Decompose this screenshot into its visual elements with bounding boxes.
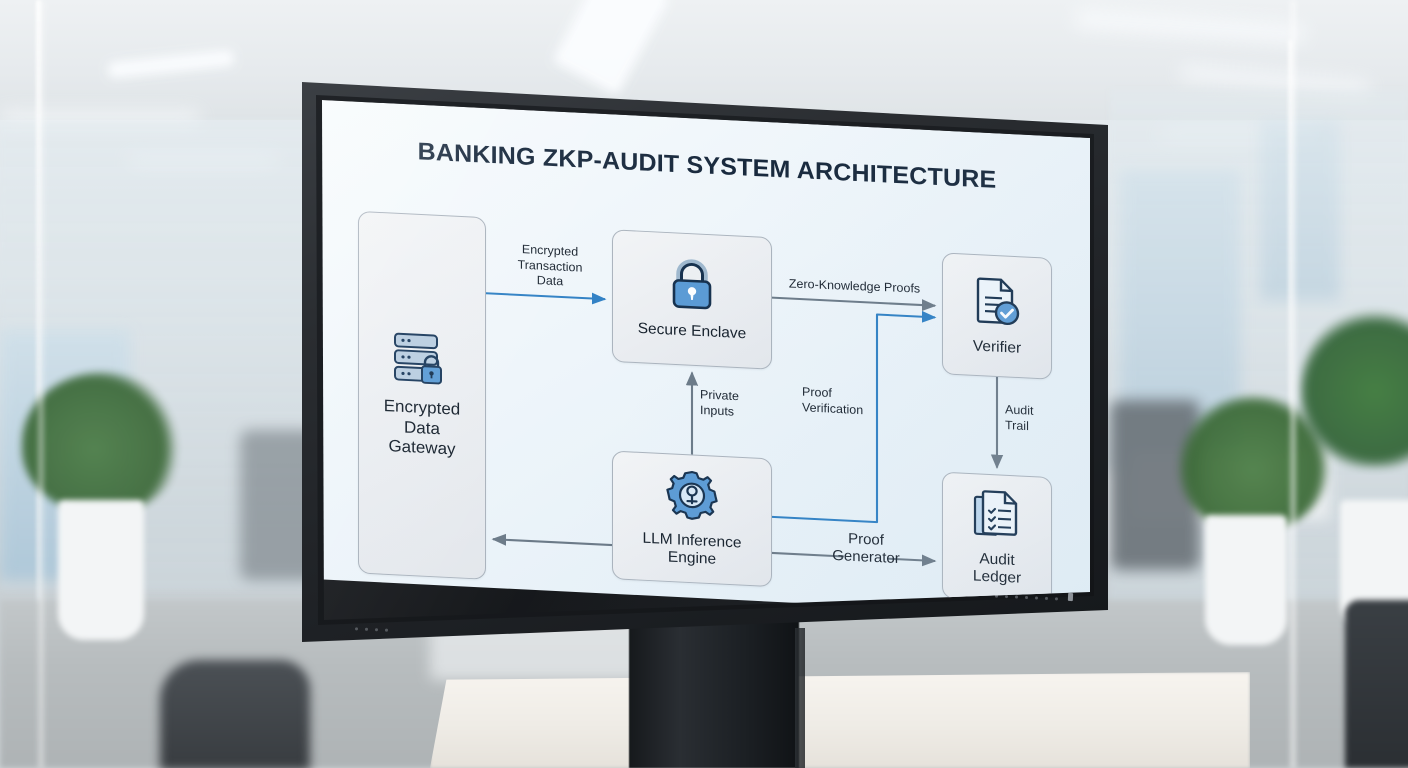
document-check-icon: [972, 275, 1022, 333]
office-scene: BANKING ZKP-AUDIT SYSTEM ARCHITECTURE: [0, 0, 1408, 768]
node-verifier[interactable]: Verifier: [942, 252, 1052, 379]
node-label: Encrypted Data Gateway: [384, 397, 461, 460]
edge-encrypted-transaction-data: [486, 293, 605, 299]
monitor-stand-edge: [795, 628, 805, 768]
edge-label-proof-verification: Proof Verification: [802, 385, 874, 419]
edge-llm-to-gateway: [493, 539, 612, 545]
node-label: Secure Enclave: [638, 320, 747, 343]
node-audit-ledger[interactable]: Audit Ledger: [942, 472, 1052, 604]
power-indicator-icon: [1068, 593, 1073, 601]
edge-label-private-inputs: Private Inputs: [700, 388, 770, 422]
monitor-stand: [629, 620, 799, 768]
node-label: LLM Inference Engine: [642, 530, 741, 570]
monitor-screen[interactable]: BANKING ZKP-AUDIT SYSTEM ARCHITECTURE: [296, 76, 1112, 648]
server-stack-lock-icon: [391, 331, 453, 394]
edge-label-proof-generator: Proof Generator: [825, 529, 907, 568]
node-label: Audit Ledger: [973, 550, 1021, 587]
node-encrypted-data-gateway[interactable]: Encrypted Data Gateway: [358, 211, 486, 580]
node-llm-inference-engine[interactable]: LLM Inference Engine: [612, 451, 772, 588]
display-monitor[interactable]: BANKING ZKP-AUDIT SYSTEM ARCHITECTURE: [0, 0, 1408, 768]
edge-label-audit-trail: Audit Trail: [1005, 403, 1061, 436]
checklist-document-icon: [972, 488, 1022, 546]
screen-surface: BANKING ZKP-AUDIT SYSTEM ARCHITECTURE: [322, 100, 1092, 617]
gear-icon: [666, 469, 718, 527]
padlock-icon: [667, 257, 717, 317]
edge-zero-knowledge-proofs: [772, 298, 935, 306]
node-secure-enclave[interactable]: Secure Enclave: [612, 229, 772, 369]
architecture-diagram: BANKING ZKP-AUDIT SYSTEM ARCHITECTURE: [322, 100, 1092, 617]
edge-label-encrypted-transaction-data: Encrypted Transaction Data: [500, 241, 600, 291]
node-label: Verifier: [973, 337, 1021, 357]
